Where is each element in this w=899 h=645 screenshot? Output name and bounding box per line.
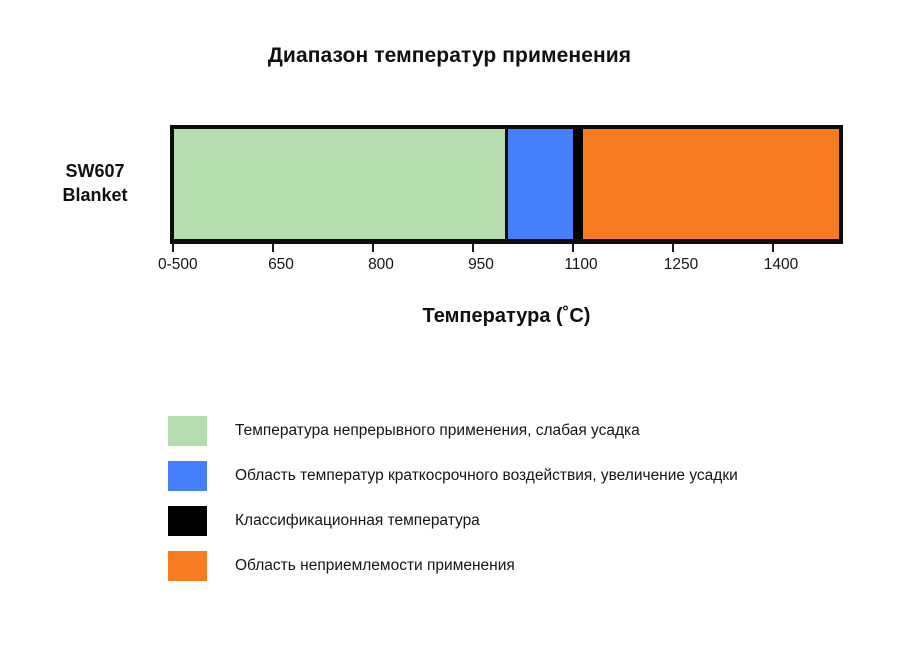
x-axis-tick-label: 1100: [564, 256, 597, 274]
y-axis-category-line-1: SW607: [30, 160, 160, 184]
x-axis-tick-label: 0-500: [158, 256, 198, 274]
chart-container: Диапазон температур применения SW607 Bla…: [0, 0, 899, 645]
bar-segment-continuous-use: [174, 129, 505, 239]
x-axis-line: [170, 241, 843, 244]
stacked-bar: [170, 125, 843, 243]
legend-item: Температура непрерывного применения, сла…: [168, 408, 868, 453]
x-axis-tick: [272, 243, 274, 252]
x-axis-tick: [772, 243, 774, 252]
x-axis-tick: [372, 243, 374, 252]
x-axis-tick: [572, 243, 574, 252]
legend-item: Область температур краткосрочного воздей…: [168, 453, 868, 498]
chart-title: Диапазон температур применения: [0, 44, 899, 68]
legend-swatch-icon: [168, 551, 207, 581]
legend-label: Область температур краткосрочного воздей…: [235, 467, 738, 485]
legend-item: Область неприемлемости применения: [168, 543, 868, 588]
chart-legend: Температура непрерывного применения, сла…: [168, 408, 868, 588]
bar-segment-short-term: [505, 129, 573, 239]
x-axis-label: Температура (˚C): [170, 305, 843, 328]
x-axis-tick-label: 950: [468, 256, 494, 274]
x-axis-tick: [472, 243, 474, 252]
bar-segment-classification: [573, 129, 583, 239]
y-axis-category-line-2: Blanket: [30, 184, 160, 208]
x-axis-tick-label: 1400: [764, 256, 798, 274]
legend-label: Температура непрерывного применения, сла…: [235, 422, 640, 440]
x-axis-tick: [172, 243, 174, 252]
x-axis-tick-label: 650: [268, 256, 294, 274]
legend-swatch-icon: [168, 461, 207, 491]
legend-swatch-icon: [168, 416, 207, 446]
legend-label: Классификационная температура: [235, 512, 480, 530]
legend-label: Область неприемлемости применения: [235, 557, 515, 575]
legend-swatch-icon: [168, 506, 207, 536]
x-axis-tick-label: 800: [368, 256, 394, 274]
y-axis-category-label: SW607 Blanket: [30, 160, 160, 208]
bar-segment-unacceptable: [583, 129, 839, 239]
x-axis-tick: [672, 243, 674, 252]
legend-item: Классификационная температура: [168, 498, 868, 543]
x-axis-tick-label: 1250: [664, 256, 698, 274]
